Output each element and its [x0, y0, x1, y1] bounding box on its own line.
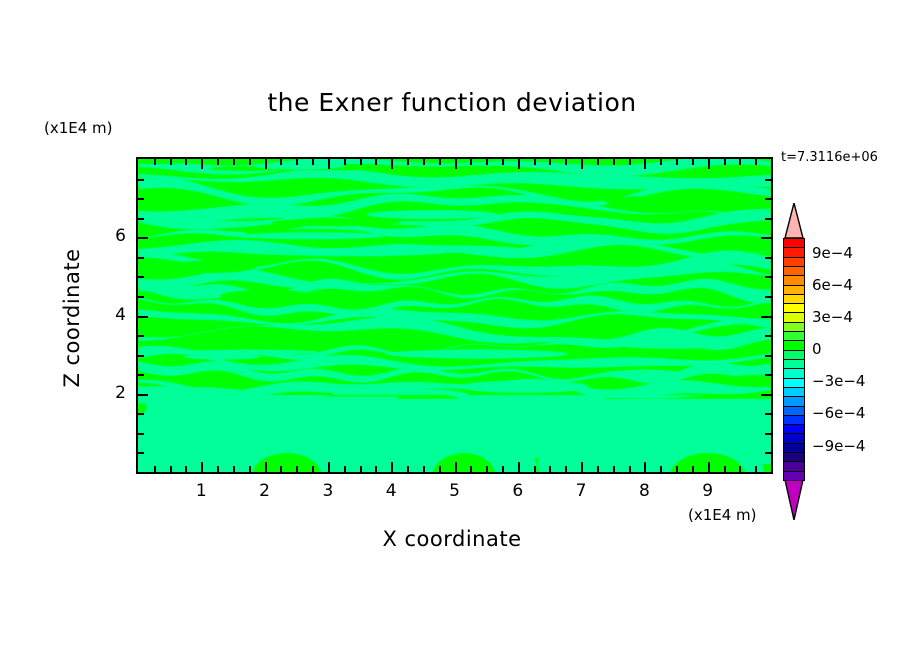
- colorbar-tick-label: −6e−4: [812, 404, 865, 422]
- x-axis-tick: [502, 159, 504, 165]
- x-axis-tick: [170, 466, 172, 472]
- x-axis-tick: [660, 466, 662, 472]
- x-axis-tick: [185, 159, 187, 165]
- x-axis-tick: [486, 466, 488, 472]
- x-axis-tick: [280, 159, 282, 165]
- x-axis-tick: [233, 466, 235, 472]
- x-axis-tick: [613, 159, 615, 165]
- y-axis-tick: [138, 433, 144, 435]
- x-axis-tick: [708, 159, 710, 169]
- colorbar-tick-label: −3e−4: [812, 372, 865, 390]
- x-axis-tick: [470, 466, 472, 472]
- x-axis-tick: [328, 462, 330, 472]
- y-axis-tick: [138, 452, 144, 454]
- x-axis-tick-label: 5: [440, 481, 470, 501]
- x-axis-tick: [629, 159, 631, 165]
- x-axis-tick: [344, 466, 346, 472]
- y-axis-tick: [761, 316, 771, 318]
- y-axis-tick: [138, 374, 144, 376]
- y-axis-tick: [138, 276, 144, 278]
- x-axis-tick: [676, 159, 678, 165]
- x-axis-tick: [629, 466, 631, 472]
- x-axis-tick: [360, 159, 362, 165]
- x-axis-tick: [692, 159, 694, 165]
- x-axis-tick: [201, 159, 203, 169]
- y-axis-tick: [765, 452, 771, 454]
- x-axis-tick: [486, 159, 488, 165]
- x-axis-tick: [692, 466, 694, 472]
- colorbar[interactable]: [783, 203, 805, 520]
- x-axis-unit-label: (x1E4 m): [688, 506, 757, 524]
- x-axis-tick: [280, 466, 282, 472]
- x-axis-tick: [360, 466, 362, 472]
- y-axis-tick: [761, 394, 771, 396]
- x-axis-tick: [660, 159, 662, 165]
- colorbar-tick-label: 3e−4: [812, 308, 853, 326]
- y-axis-tick: [765, 218, 771, 220]
- y-axis-tick: [138, 355, 144, 357]
- x-axis-tick-label: 7: [566, 481, 596, 501]
- x-axis-tick: [502, 466, 504, 472]
- x-axis-tick: [534, 159, 536, 165]
- y-axis-tick: [765, 179, 771, 181]
- x-axis-tick: [407, 466, 409, 472]
- x-axis-tick: [201, 462, 203, 472]
- x-axis-tick: [439, 159, 441, 165]
- x-axis-tick: [423, 159, 425, 165]
- y-axis-tick: [138, 394, 148, 396]
- y-axis-tick: [138, 179, 144, 181]
- y-axis-tick: [765, 296, 771, 298]
- x-axis-tick: [312, 466, 314, 472]
- x-axis-tick: [154, 159, 156, 165]
- x-axis-tick: [739, 466, 741, 472]
- x-axis-tick: [375, 466, 377, 472]
- x-axis-tick: [455, 159, 457, 169]
- colorbar-over-arrow: [783, 203, 805, 238]
- y-axis-tick: [761, 237, 771, 239]
- x-axis-tick: [755, 159, 757, 165]
- x-axis-tick: [549, 159, 551, 165]
- x-axis-tick: [518, 462, 520, 472]
- y-axis-tick-label: 4: [100, 305, 126, 325]
- x-axis-tick: [565, 466, 567, 472]
- colorbar-tick-label: 6e−4: [812, 276, 853, 294]
- x-axis-tick: [233, 159, 235, 165]
- y-axis-tick: [138, 316, 148, 318]
- x-axis-tick: [328, 159, 330, 169]
- x-axis-tick: [185, 466, 187, 472]
- x-axis-tick: [312, 159, 314, 165]
- x-axis-tick: [755, 466, 757, 472]
- y-axis-unit-label: (x1E4 m): [44, 119, 113, 137]
- x-axis-tick: [518, 159, 520, 169]
- x-axis-tick: [217, 159, 219, 165]
- x-axis-tick: [375, 159, 377, 165]
- x-axis-tick: [391, 462, 393, 472]
- x-axis-tick: [644, 462, 646, 472]
- colorbar-tick-label: 9e−4: [812, 244, 853, 262]
- x-axis-tick-label: 8: [629, 481, 659, 501]
- x-axis-tick: [597, 159, 599, 165]
- y-axis-tick: [138, 257, 144, 259]
- y-axis-tick: [138, 413, 144, 415]
- x-axis-title: X coordinate: [0, 527, 904, 551]
- x-axis-tick: [676, 466, 678, 472]
- page-title: the Exner function deviation: [0, 88, 904, 117]
- x-axis-tick-label: 3: [313, 481, 343, 501]
- x-axis-tick: [249, 466, 251, 472]
- x-axis-tick: [739, 159, 741, 165]
- x-axis-tick-label: 1: [186, 481, 216, 501]
- x-axis-tick: [407, 159, 409, 165]
- x-axis-tick: [565, 159, 567, 165]
- y-axis-tick: [138, 218, 144, 220]
- x-axis-tick: [296, 159, 298, 165]
- x-axis-tick: [581, 462, 583, 472]
- y-axis-tick-label: 2: [100, 383, 126, 403]
- y-axis-tick: [765, 335, 771, 337]
- y-axis-tick: [765, 413, 771, 415]
- x-axis-tick: [549, 466, 551, 472]
- colorbar-tick-label: −9e−4: [812, 437, 865, 455]
- x-axis-tick-label: 2: [250, 481, 280, 501]
- y-axis-tick-label: 6: [100, 226, 126, 246]
- x-axis-tick: [423, 466, 425, 472]
- x-axis-tick: [724, 466, 726, 472]
- x-axis-tick: [644, 159, 646, 169]
- x-axis-tick: [265, 159, 267, 169]
- x-axis-tick: [170, 159, 172, 165]
- x-axis-tick: [470, 159, 472, 165]
- x-axis-tick: [613, 466, 615, 472]
- y-axis-tick: [138, 198, 144, 200]
- x-axis-tick: [391, 159, 393, 169]
- y-axis-tick: [765, 374, 771, 376]
- colorbar-under-arrow: [783, 480, 805, 520]
- x-axis-tick-label: 9: [693, 481, 723, 501]
- y-axis-tick: [765, 257, 771, 259]
- x-axis-tick-label: 4: [376, 481, 406, 501]
- colorbar-tick-label: 0: [812, 340, 822, 358]
- x-axis-tick: [534, 466, 536, 472]
- x-axis-tick: [708, 462, 710, 472]
- x-axis-tick: [344, 159, 346, 165]
- contour-field: [138, 159, 771, 472]
- x-axis-tick: [597, 466, 599, 472]
- y-axis-tick: [138, 296, 144, 298]
- x-axis-tick: [154, 466, 156, 472]
- x-axis-tick: [439, 466, 441, 472]
- time-stamp-annotation: t=7.3116e+06: [781, 150, 878, 165]
- x-axis-tick-label: 6: [503, 481, 533, 501]
- y-axis-tick: [765, 276, 771, 278]
- y-axis-tick: [765, 433, 771, 435]
- x-axis-tick: [455, 462, 457, 472]
- x-axis-tick: [581, 159, 583, 169]
- y-axis-tick: [765, 198, 771, 200]
- y-axis-tick: [138, 237, 148, 239]
- x-axis-tick: [217, 466, 219, 472]
- y-axis-tick: [765, 355, 771, 357]
- x-axis-tick: [296, 466, 298, 472]
- y-axis-tick: [138, 335, 144, 337]
- y-axis-title: Z coordinate: [60, 228, 84, 408]
- x-axis-tick: [265, 462, 267, 472]
- contour-plot-area: [136, 157, 773, 474]
- x-axis-tick: [249, 159, 251, 165]
- x-axis-tick: [724, 159, 726, 165]
